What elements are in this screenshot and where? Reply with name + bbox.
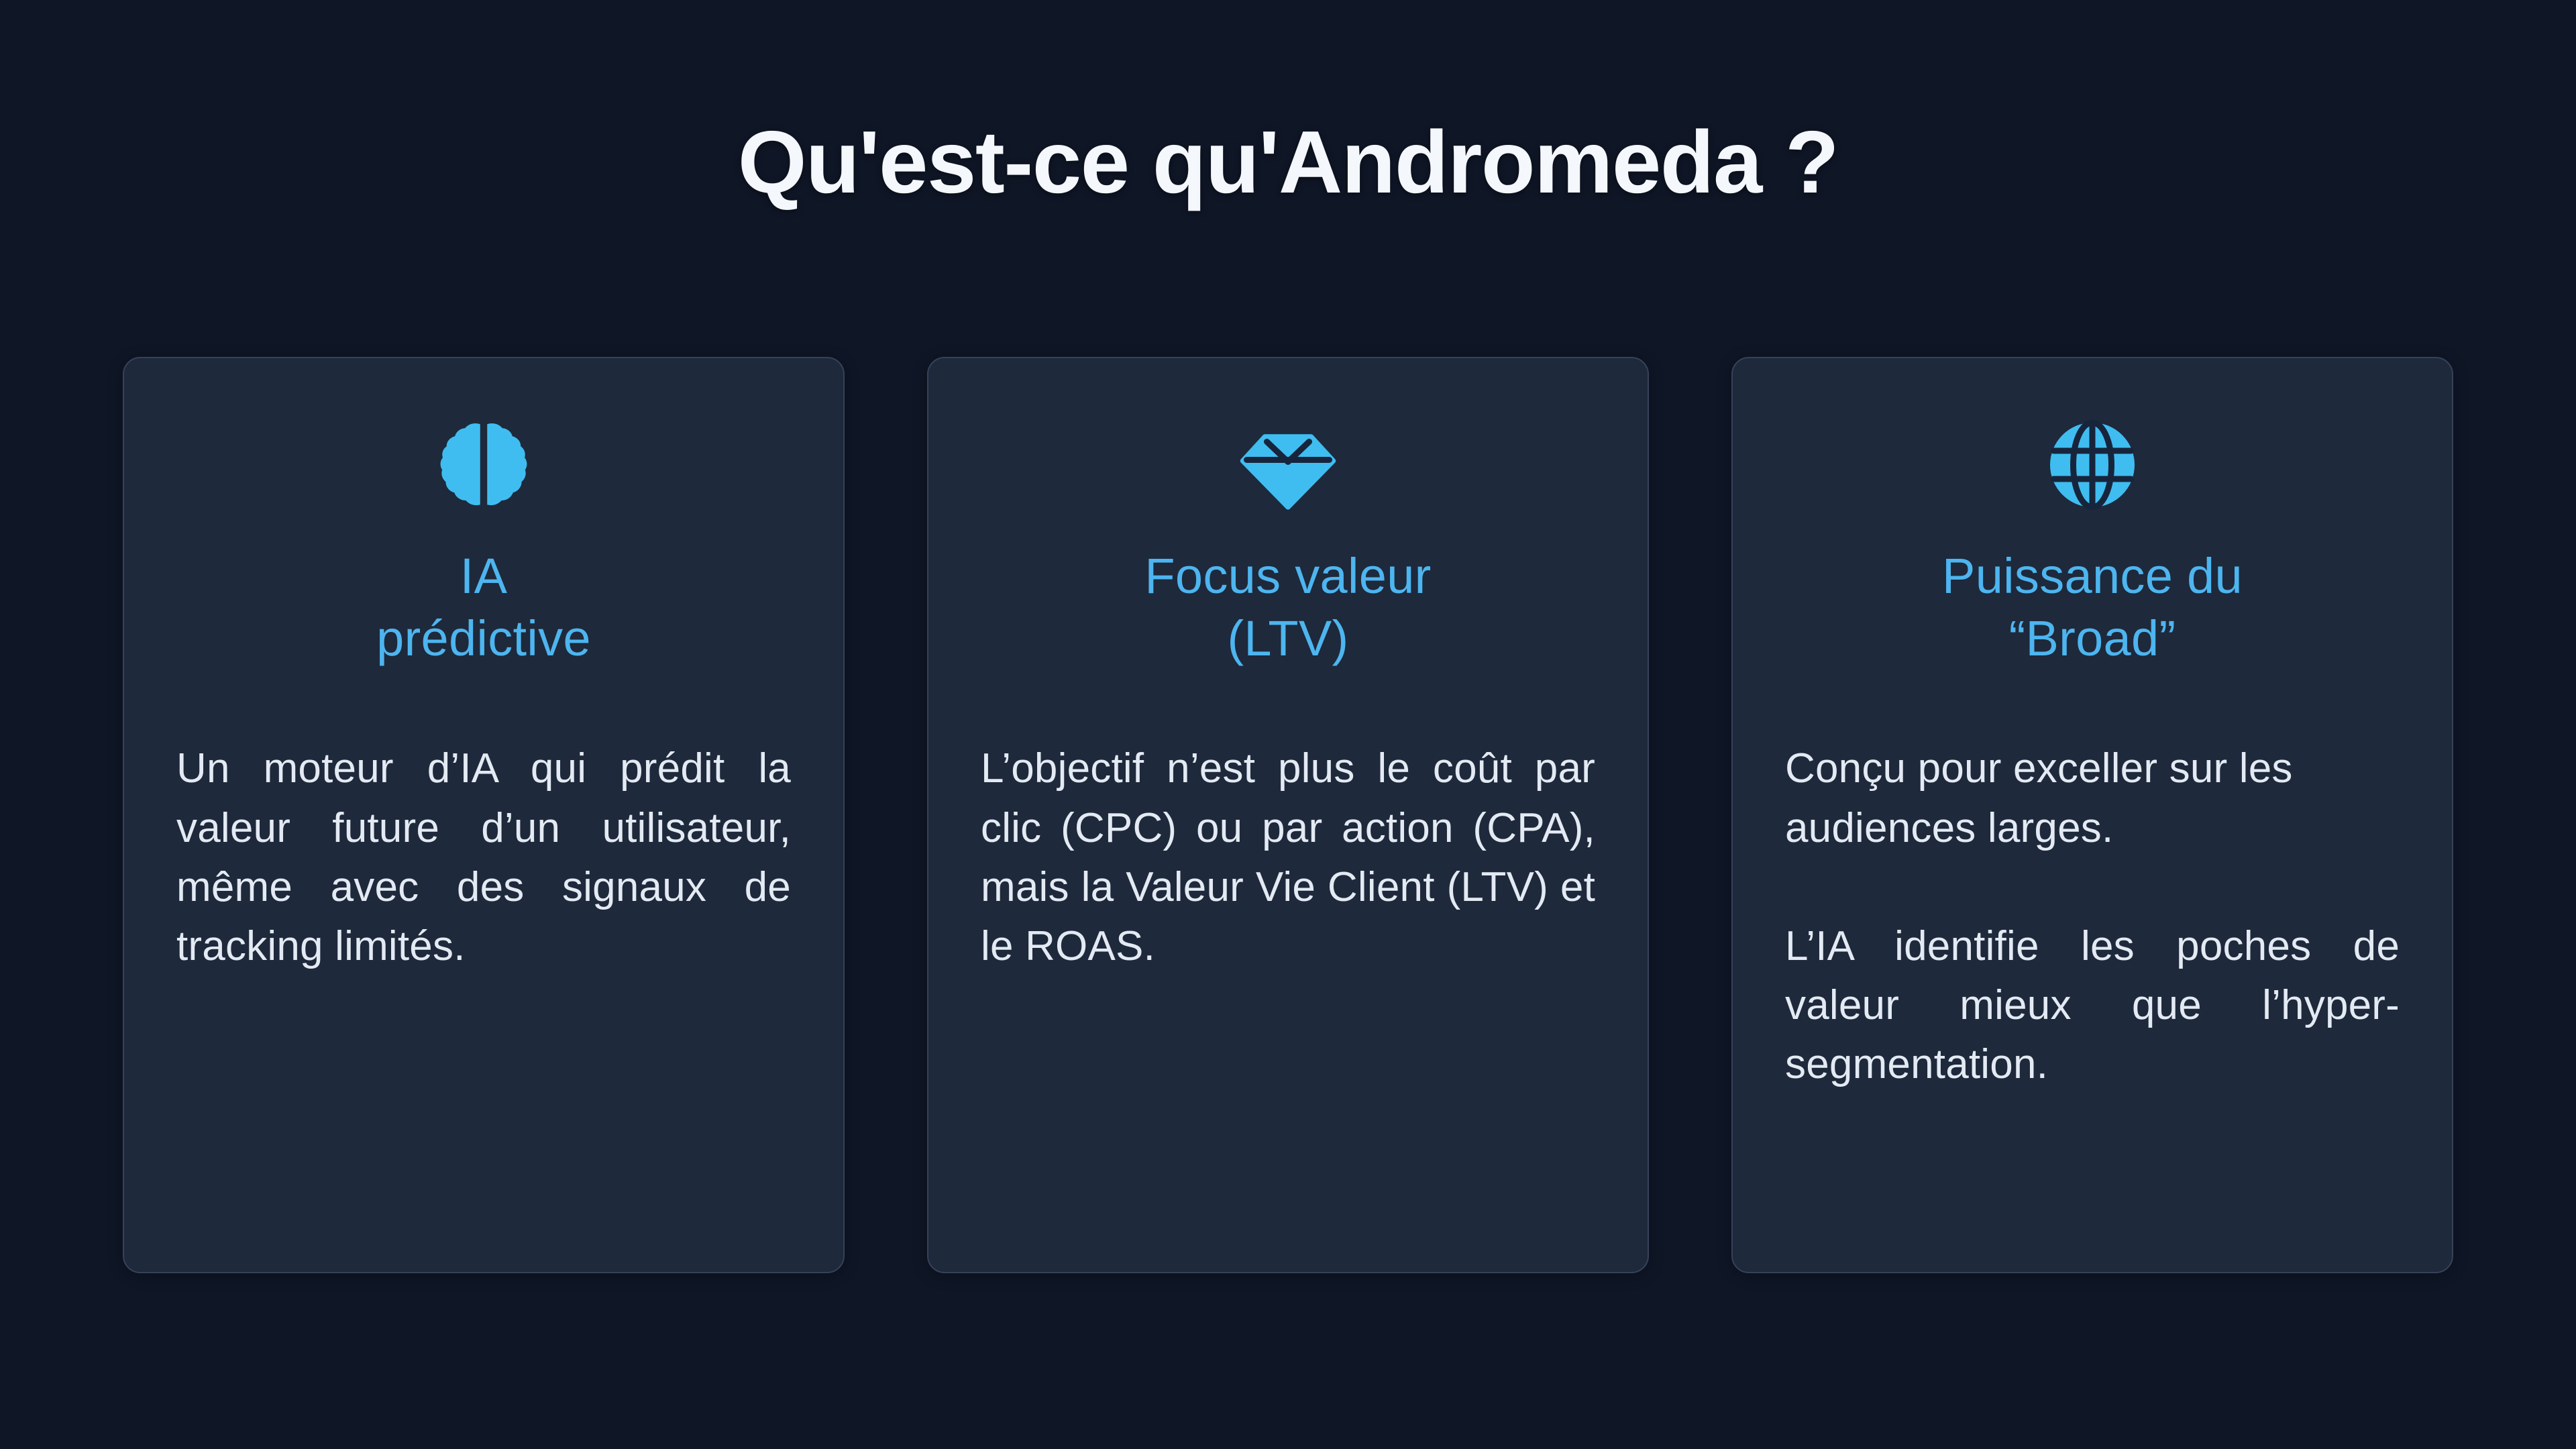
card-paragraph: L’IA identifie les poches de valeur mieu… bbox=[1785, 917, 2400, 1094]
card-paragraph: L’objectif n’est plus le coût par clic (… bbox=[981, 739, 1595, 975]
title-container: Qu'est-ce qu'Andromeda ? bbox=[0, 113, 2576, 212]
page-title: Qu'est-ce qu'Andromeda ? bbox=[738, 113, 1838, 212]
card-heading: Focus valeur (LTV) bbox=[1144, 545, 1431, 669]
feature-card-predictive-ai[interactable]: IA prédictive Un moteur d’IA qui prédit … bbox=[123, 357, 845, 1273]
slide-root: Qu'est-ce qu'Andromeda ? IA prédictive U… bbox=[0, 0, 2576, 1449]
feature-card-row: IA prédictive Un moteur d’IA qui prédit … bbox=[123, 357, 2453, 1273]
gem-icon bbox=[1238, 415, 1338, 515]
card-paragraph: Conçu pour exceller sur les audiences la… bbox=[1785, 739, 2400, 857]
card-body: Conçu pour exceller sur les audiences la… bbox=[1785, 739, 2400, 1093]
card-body: L’objectif n’est plus le coût par clic (… bbox=[981, 739, 1595, 975]
card-paragraph: Un moteur d’IA qui prédit la valeur futu… bbox=[176, 739, 791, 975]
card-heading: Puissance du “Broad” bbox=[1942, 545, 2243, 669]
feature-card-broad-power[interactable]: Puissance du “Broad” Conçu pour exceller… bbox=[1731, 357, 2453, 1273]
globe-icon bbox=[2042, 415, 2143, 515]
brain-icon bbox=[433, 415, 534, 515]
card-heading: IA prédictive bbox=[376, 545, 591, 669]
feature-card-value-focus[interactable]: Focus valeur (LTV) L’objectif n’est plus… bbox=[927, 357, 1649, 1273]
card-body: Un moteur d’IA qui prédit la valeur futu… bbox=[176, 739, 791, 975]
